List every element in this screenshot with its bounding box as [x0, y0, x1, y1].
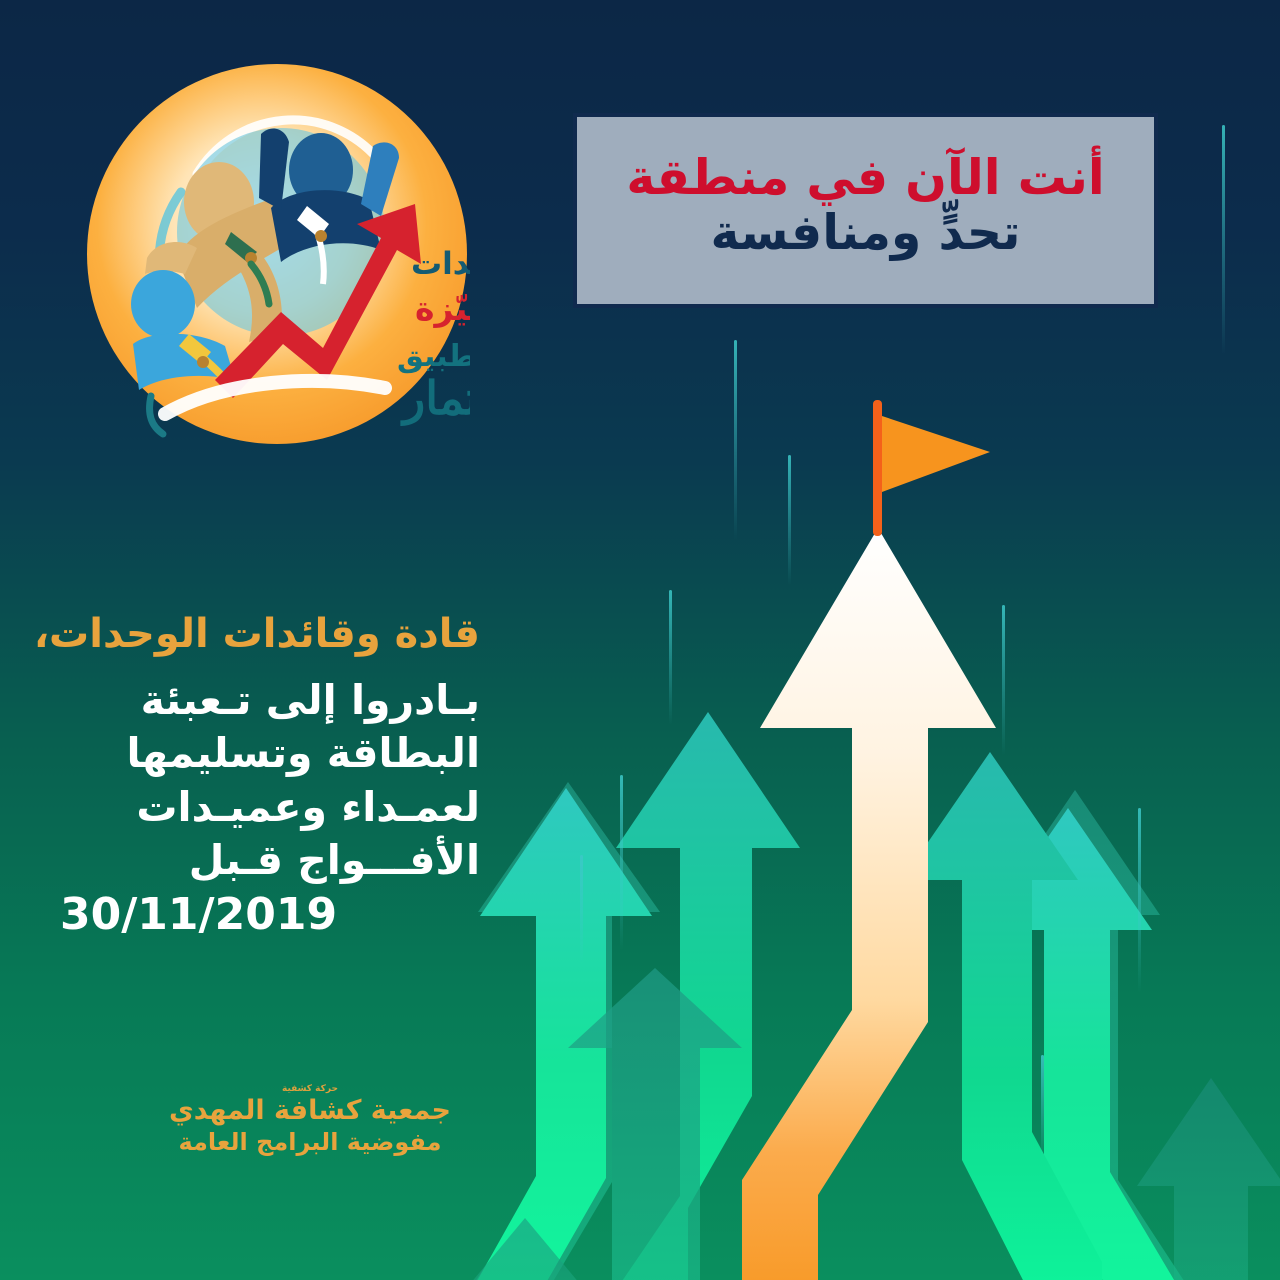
footer-org-name: جمعية كشافة المهدي [150, 1095, 470, 1127]
copy-line: لعمـداء وعميـدات [60, 781, 480, 834]
poster-canvas: الوحدات المتميّزة في تطبيق استثمار أنت ا… [0, 0, 1280, 1280]
footer-org-department: مفوضية البرامج العامة [150, 1127, 470, 1157]
accent-line [669, 590, 672, 725]
accent-line [788, 455, 791, 585]
accent-line [1002, 605, 1005, 755]
copy-paragraph: بـادروا إلى تـعبئة البطاقة وتسليمها لعمـ… [60, 674, 480, 887]
copy-line: البطاقة وتسليمها [60, 727, 480, 780]
accent-line [580, 855, 583, 965]
goal-flag [873, 400, 990, 536]
deadline-date: 30/11/2019 [60, 889, 480, 940]
accent-line [734, 340, 737, 540]
headline-line-2: تحدٍّ ومنافسة [711, 205, 1021, 261]
accent-line [1222, 125, 1225, 355]
logo-word-mid: المتميّزة [415, 289, 470, 329]
accent-line [620, 775, 623, 950]
logo-word-top: الوحدات [411, 246, 470, 282]
copy-eyebrow: قادة وقائدات الوحدات، [60, 612, 480, 656]
logo-word-bottom: في تطبيق [397, 339, 470, 374]
footer-organization: حركة كشفية جمعية كشافة المهدي مفوضية الب… [150, 1085, 470, 1157]
copy-line: الأفـــواج قـبل [60, 834, 480, 887]
headline-line-1: أنت الآن في منطقة [626, 152, 1104, 205]
main-growth-arrow [742, 528, 996, 1280]
copy-line: بـادروا إلى تـعبئة [60, 674, 480, 727]
accent-line [1041, 1055, 1044, 1160]
logo-script-word: استثمار [400, 371, 470, 426]
accent-line [1138, 808, 1141, 993]
footer-micro-text: حركة كشفية [150, 1085, 470, 1094]
body-copy-block: قادة وقائدات الوحدات، بـادروا إلى تـعبئة… [60, 612, 480, 940]
organization-logo: الوحدات المتميّزة في تطبيق استثمار [85, 62, 470, 447]
headline-panel: أنت الآن في منطقة تحدٍّ ومنافسة [573, 113, 1158, 308]
